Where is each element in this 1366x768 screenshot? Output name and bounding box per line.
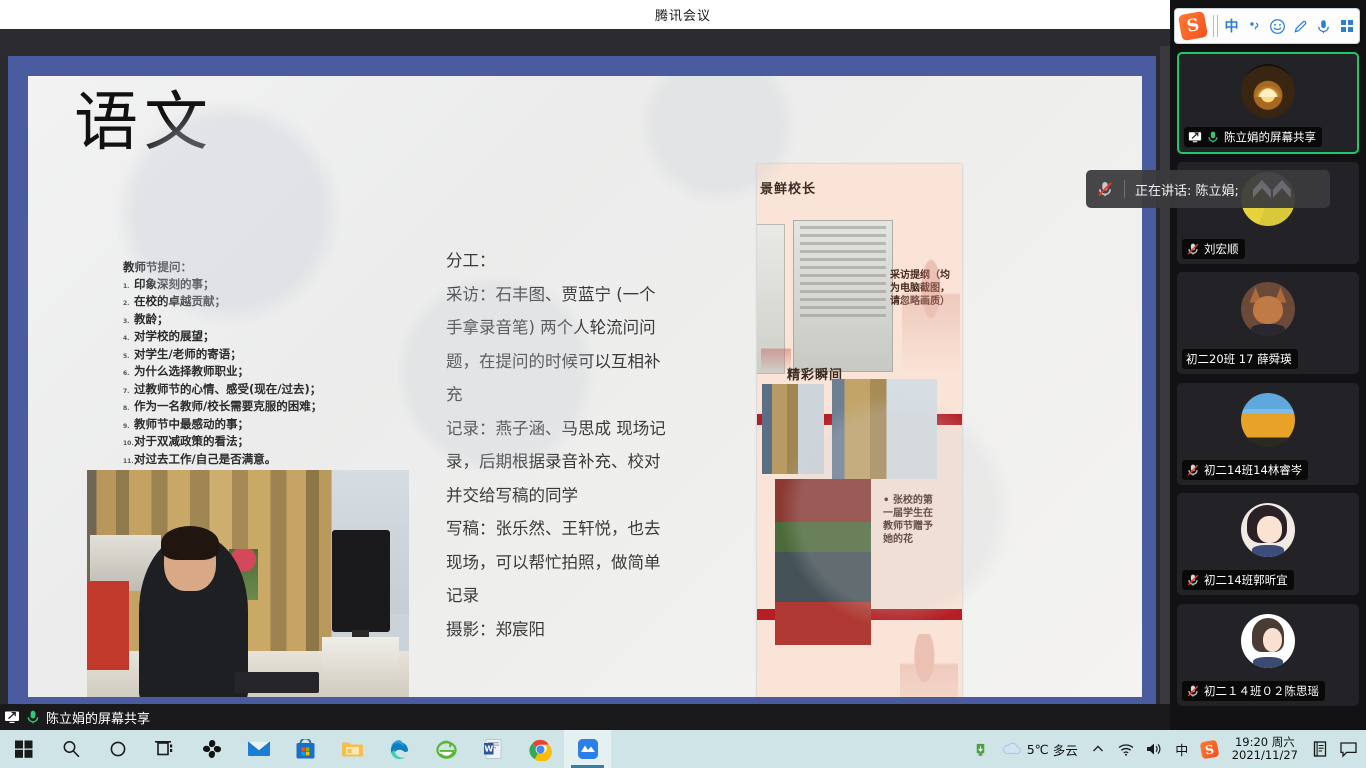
item-number: 7. — [123, 384, 134, 400]
search-button[interactable] — [47, 730, 94, 768]
photo-collage-poster: 景鲜校长 采访提纲（均为电脑截图，请忽略画质） 精彩瞬间 • 张校的第一届学生在… — [757, 164, 962, 697]
avatar — [1241, 614, 1295, 668]
app-chrome[interactable] — [517, 730, 564, 768]
item-text: 在校的卓越贡献； — [134, 294, 226, 310]
participant-name: 陈立娟的屏幕共享 — [1224, 129, 1316, 145]
ppt-slide-frame: 语文 教师节提问： 1.印象深刻的事； 2.在校的卓越贡献； 3.教龄； 4.对… — [8, 56, 1156, 711]
item-number: 11. — [123, 454, 134, 470]
assignment-line: 记录：燕子涵、马思成 现场记 — [446, 412, 718, 446]
folder-icon — [341, 739, 364, 759]
list-item: 11.对过去工作/自己是否满意。 — [123, 452, 363, 470]
mic-muted-icon — [1186, 684, 1200, 698]
cortana-button[interactable] — [94, 730, 141, 768]
screen-share-status-bar: 陈立娟的屏幕共享 — [0, 704, 1170, 730]
poster-photo-left — [762, 384, 824, 474]
app-mail[interactable] — [235, 730, 282, 768]
photo-keyboard — [235, 672, 319, 693]
avatar — [1241, 503, 1295, 557]
windows-taskbar: W 5℃ 多云 — [0, 730, 1366, 768]
assignment-text-block: 分工： 采访：石丰图、贾蓝宁 (一个 手拿录音笔) 两个人轮流问问 题，在提问的… — [446, 244, 718, 646]
participant-name: 初二14班14林睿岑 — [1204, 462, 1302, 478]
circle-icon — [108, 739, 128, 759]
cloud-icon — [1001, 740, 1023, 758]
windows-logo-icon — [14, 739, 34, 759]
item-text: 为什么选择教师职业； — [134, 364, 249, 380]
participant-name-chip: 初二14班郭昕宜 — [1182, 570, 1294, 590]
participant-name: 初二20班 17 薛舜瑛 — [1186, 351, 1292, 367]
sogou-tray-icon[interactable]: S — [1196, 730, 1224, 768]
ime-divider — [1213, 15, 1214, 37]
item-text: 教龄； — [134, 312, 169, 328]
edge-icon — [388, 738, 411, 761]
assignment-line: 记录 — [446, 579, 718, 613]
item-number: 2. — [123, 296, 134, 312]
ime-mode-indicator[interactable]: 中 — [1168, 730, 1196, 768]
screen-share-status-text: 陈立娟的屏幕共享 — [46, 708, 150, 727]
item-number: 9. — [123, 419, 134, 435]
participant-tile[interactable]: 初二14班郭昕宜 — [1177, 493, 1359, 595]
weather-widget[interactable]: 5℃ 多云 — [995, 740, 1084, 759]
assignment-line: 题，在提问的时候可以互相补 — [446, 345, 718, 379]
list-item: 7.过教师节的心情、感受(现在/过去)； — [123, 382, 363, 400]
participant-tile-screen-share[interactable]: 陈立娟的屏幕共享 — [1177, 52, 1359, 154]
poster-note-flowers: • 张校的第一届学生在教师节赠予她的花 — [883, 494, 941, 546]
search-icon — [61, 739, 81, 759]
poster-sketch-figure-bottom — [900, 634, 958, 697]
action-center-icon[interactable] — [1334, 730, 1362, 768]
photo-books — [322, 637, 399, 679]
question-list: 教师节提问： 1.印象深刻的事； 2.在校的卓越贡献； 3.教龄； 4.对学校的… — [123, 260, 363, 469]
system-tray: 5℃ 多云 中 S 19:20 周六 20 — [967, 730, 1366, 768]
ime-divider-2 — [1217, 15, 1218, 37]
list-item: 8.作为一名教师/校长需要克服的困难； — [123, 399, 363, 417]
avatar — [1241, 282, 1295, 336]
audio-wave-icon — [1253, 180, 1291, 198]
participant-name: 初二14班郭昕宜 — [1204, 572, 1288, 588]
slide-title: 语文 — [74, 84, 214, 162]
question-items: 1.印象深刻的事； 2.在校的卓越贡献； 3.教龄； 4.对学校的展望； 5.对… — [123, 277, 363, 470]
speaker-icon[interactable] — [1140, 730, 1168, 768]
item-number: 3. — [123, 314, 134, 330]
item-text: 教师节中最感动的事； — [134, 417, 249, 433]
weather-description: 多云 — [1053, 740, 1078, 759]
ime-pen-icon[interactable] — [1289, 11, 1312, 41]
toast-text: 正在讲话: 陈立娟; — [1135, 180, 1239, 199]
app-edge[interactable] — [376, 730, 423, 768]
mic-muted-icon — [1186, 242, 1200, 256]
assignment-line: 现场，可以帮忙拍照，做简单 — [446, 546, 718, 580]
ime-apps-icon[interactable] — [1335, 11, 1358, 41]
ime-language-label: 中 — [1225, 16, 1239, 36]
list-item: 4.对学校的展望； — [123, 329, 363, 347]
ime-emoji-icon[interactable] — [1266, 11, 1289, 41]
mic-on-icon — [1206, 130, 1220, 144]
poster-screenshot-outline — [793, 220, 893, 372]
speaking-toast: 正在讲话: 陈立娟; — [1086, 170, 1330, 208]
avatar — [1241, 393, 1295, 447]
item-text: 印象深刻的事； — [134, 277, 215, 293]
chrome-icon — [529, 738, 552, 761]
assignment-line: 摄影：郑宸阳 — [446, 613, 718, 647]
screen-share-icon — [4, 709, 20, 725]
assignment-line: 并交给写稿的同学 — [446, 479, 718, 513]
notes-icon[interactable] — [1306, 730, 1334, 768]
usb-safely-remove-icon[interactable] — [967, 730, 995, 768]
sogou-tray-letter: S — [1200, 739, 1220, 759]
mic-on-icon — [25, 709, 41, 725]
participant-tile[interactable]: 初二１４班０２陈思瑶 — [1177, 604, 1359, 706]
item-number: 1. — [123, 279, 134, 295]
question-list-header: 教师节提问： — [123, 260, 363, 276]
weather-temperature: 5℃ — [1027, 742, 1049, 757]
ime-language-mode-icon[interactable]: 中 — [1220, 11, 1243, 41]
window-title-bar: 腾讯会议 — [0, 0, 1366, 29]
participant-name-chip: 初二１４班０２陈思瑶 — [1182, 681, 1325, 701]
clock-date: 2021/11/27 — [1232, 749, 1298, 762]
list-item: 10.对于双减政策的看法； — [123, 434, 363, 452]
photo-monitor — [332, 530, 390, 632]
ime-punctuation-icon[interactable] — [1243, 11, 1266, 41]
photo-person-hair — [161, 526, 219, 561]
list-item: 2.在校的卓越贡献； — [123, 294, 363, 312]
item-text: 对学校的展望； — [134, 329, 215, 345]
principal-interview-photo — [87, 470, 409, 697]
assignment-line: 分工： — [446, 244, 718, 278]
assignment-line: 写稿：张乐然、王轩悦，也去 — [446, 512, 718, 546]
assignment-line: 录，后期根据录音补充、校对 — [446, 445, 718, 479]
list-item: 1.印象深刻的事； — [123, 277, 363, 295]
screen-share-icon — [1188, 130, 1202, 144]
app-microsoft-store[interactable] — [282, 730, 329, 768]
participant-name-chip: 刘宏顺 — [1182, 239, 1245, 259]
task-view-icon — [154, 739, 176, 759]
app-file-explorer[interactable] — [329, 730, 376, 768]
poster-photo-right — [832, 379, 937, 479]
item-number: 5. — [123, 349, 134, 365]
shared-screen-area: 语文 教师节提问： 1.印象深刻的事； 2.在校的卓越贡献； 3.教龄； 4.对… — [0, 29, 1170, 704]
shared-screen-top-band — [0, 29, 1170, 55]
ime-voice-icon[interactable] — [1312, 11, 1335, 41]
participant-name: 刘宏顺 — [1204, 241, 1239, 257]
item-text: 作为一名教师/校长需要克服的困难； — [134, 399, 322, 415]
participant-name-chip: 陈立娟的屏幕共享 — [1184, 127, 1322, 147]
task-view-button[interactable] — [141, 730, 188, 768]
participant-name-chip: 初二14班14林睿岑 — [1182, 460, 1308, 480]
item-text: 对过去工作/自己是否满意。 — [134, 452, 276, 468]
participant-rail-scrollbar[interactable] — [1160, 46, 1170, 730]
item-text: 对学生/老师的寄语； — [134, 347, 242, 363]
store-icon — [295, 739, 316, 760]
assignment-line: 采访：石丰图、贾蓝宁 (一个 — [446, 278, 718, 312]
poster-heading-principal: 景鲜校长 — [760, 178, 816, 197]
window-title: 腾讯会议 — [655, 5, 711, 24]
mail-icon — [247, 739, 271, 759]
ie-icon — [435, 738, 458, 761]
chevron-up-icon[interactable] — [1084, 730, 1112, 768]
assignment-line: 充 — [446, 378, 718, 412]
sogou-logo-icon[interactable]: S — [1176, 9, 1210, 43]
item-number: 4. — [123, 331, 134, 347]
tencent-meeting-icon — [577, 738, 599, 760]
participant-tile[interactable]: 初二20班 17 薛舜瑛 — [1177, 272, 1359, 374]
app-tencent-meeting[interactable] — [564, 730, 611, 768]
item-text: 对于双减政策的看法； — [134, 434, 249, 450]
app-sogou-browser[interactable] — [188, 730, 235, 768]
wifi-icon[interactable] — [1112, 730, 1140, 768]
svg-text:W: W — [484, 745, 493, 754]
sogou-logo-letter: S — [1178, 11, 1208, 41]
pinwheel-icon — [201, 738, 223, 760]
ppt-slide: 语文 教师节提问： 1.印象深刻的事； 2.在校的卓越贡献； 3.教龄； 4.对… — [28, 76, 1142, 697]
item-number: 8. — [123, 401, 134, 417]
app-internet-explorer[interactable] — [423, 730, 470, 768]
mic-muted-icon — [1186, 463, 1200, 477]
poster-sketch-figure-top — [902, 259, 960, 379]
poster-photo-flowers — [775, 479, 871, 645]
list-item: 6.为什么选择教师职业； — [123, 364, 363, 382]
item-number: 6. — [123, 366, 134, 382]
ime-mode-label: 中 — [1175, 740, 1188, 759]
participant-name: 初二１４班０２陈思瑶 — [1204, 683, 1319, 699]
mic-muted-icon — [1186, 573, 1200, 587]
word-icon: W — [483, 738, 504, 760]
list-item: 3.教龄； — [123, 312, 363, 330]
sogou-ime-toolbar[interactable]: S 中 — [1174, 8, 1360, 44]
item-text: 过教师节的心情、感受(现在/过去)； — [134, 382, 321, 398]
item-number: 10. — [123, 436, 134, 452]
app-word[interactable]: W — [470, 730, 517, 768]
participant-name-chip: 初二20班 17 薛舜瑛 — [1182, 349, 1298, 369]
assignment-line: 手拿录音笔) 两个人轮流问问 — [446, 311, 718, 345]
start-button[interactable] — [0, 730, 47, 768]
list-item: 5.对学生/老师的寄语； — [123, 347, 363, 365]
mic-muted-icon — [1096, 180, 1114, 198]
photo-red-chair — [87, 581, 129, 669]
toast-divider — [1124, 180, 1125, 198]
participant-tile[interactable]: 初二14班14林睿岑 — [1177, 383, 1359, 485]
avatar — [1241, 64, 1295, 118]
taskbar-clock[interactable]: 19:20 周六 2021/11/27 — [1224, 730, 1306, 768]
list-item: 9.教师节中最感动的事； — [123, 417, 363, 435]
